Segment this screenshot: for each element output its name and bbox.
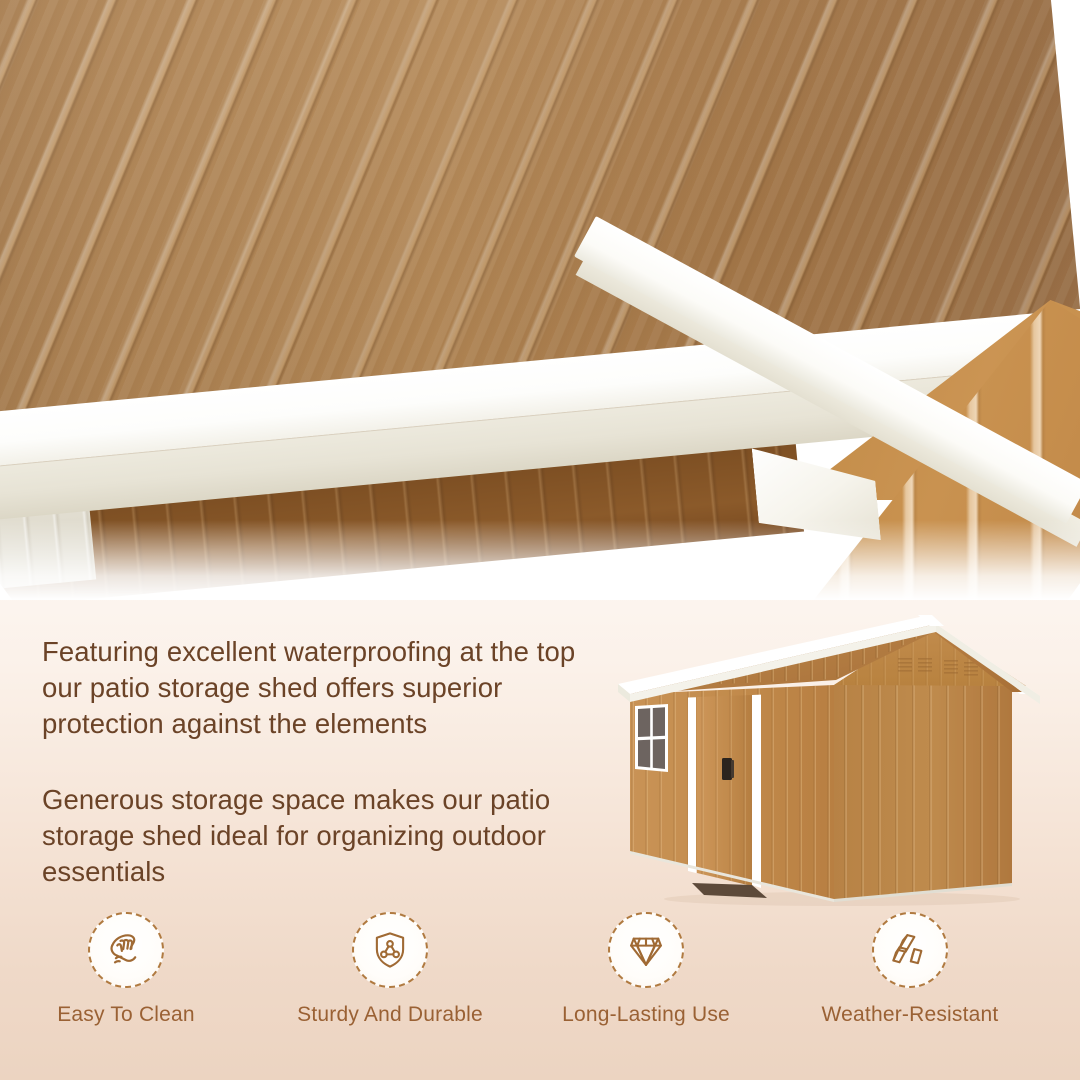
hero-photo: [0, 0, 1080, 600]
shed-side-wall: [834, 685, 1012, 900]
hero-photo-clip: [0, 0, 1080, 600]
shed-illustration: [592, 602, 1080, 912]
shed-doors[interactable]: [697, 695, 752, 886]
feature-label: Long-Lasting Use: [536, 1003, 756, 1027]
feature-item-weather-resistant: Weather-Resistant: [800, 912, 1020, 1027]
feature-label: Easy To Clean: [16, 1003, 236, 1027]
copy-paragraph-2: Generous storage space makes our patio s…: [42, 782, 602, 890]
marketing-copy: Featuring excellent waterproofing at the…: [42, 634, 602, 890]
door-trim-right: [752, 695, 761, 888]
feature-label: Sturdy And Durable: [280, 1003, 500, 1027]
door-trim-left: [688, 697, 696, 873]
diamond-icon: [625, 929, 667, 971]
feature-item-easy-to-clean: Easy To Clean: [16, 912, 236, 1027]
feature-item-long-lasting-use: Long-Lasting Use: [536, 912, 756, 1027]
feature-row: Easy To Clean Sturdy And Durable: [0, 912, 1080, 1042]
metal-bars-icon: [889, 929, 931, 971]
feature-label: Weather-Resistant: [800, 1003, 1020, 1027]
shed-window: [634, 704, 668, 772]
feature-badge: [88, 912, 164, 988]
wipe-cloth-icon: [104, 928, 148, 972]
product-image-shed: [592, 602, 1080, 912]
feature-badge: [608, 912, 684, 988]
feature-item-sturdy-and-durable: Sturdy And Durable: [280, 912, 500, 1027]
door-handle-icon[interactable]: [722, 758, 732, 780]
feature-badge: [872, 912, 948, 988]
feature-badge: [352, 912, 428, 988]
shield-nodes-icon: [369, 929, 411, 971]
product-feature-panel: Featuring excellent waterproofing at the…: [0, 0, 1080, 1080]
hero-photo-scene: [0, 0, 1080, 600]
copy-paragraph-1: Featuring excellent waterproofing at the…: [42, 634, 602, 742]
